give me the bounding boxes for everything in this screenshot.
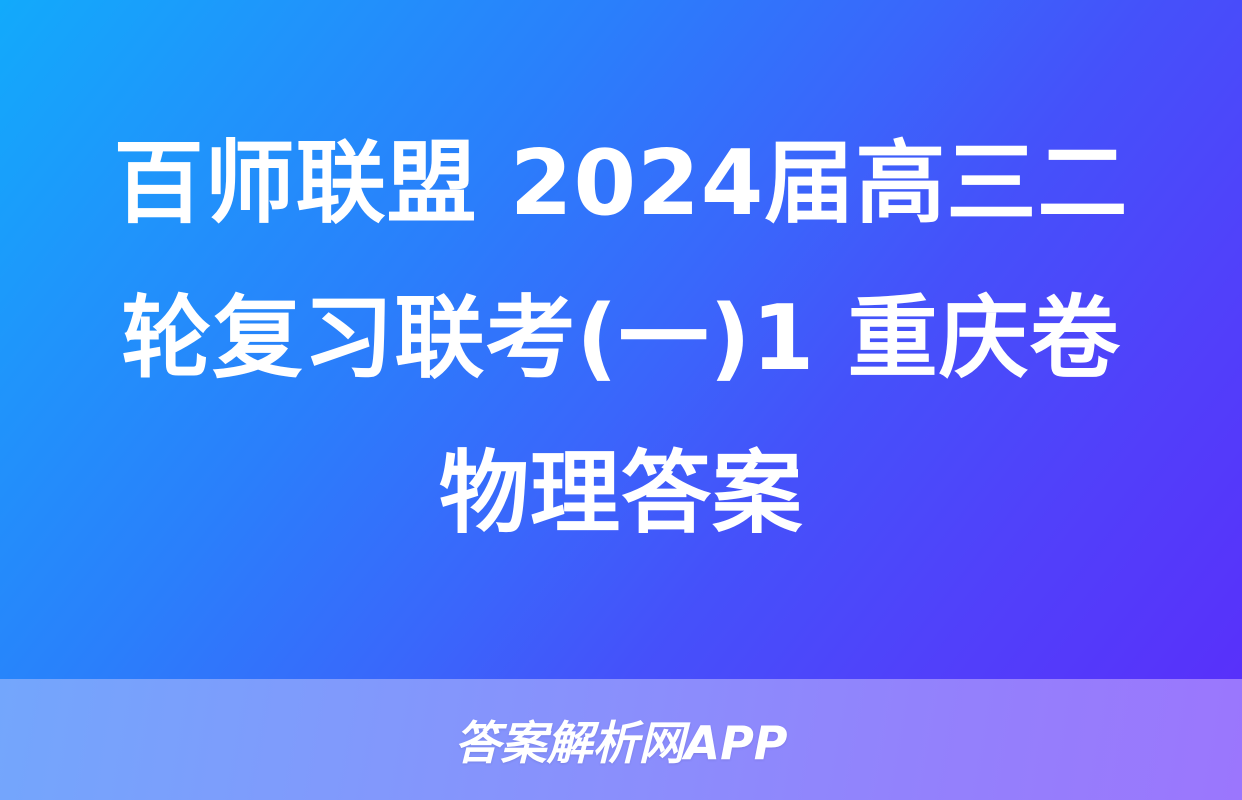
page-title: 百师联盟 2024届高三二轮复习联考(一)1 重庆卷 物理答案	[72, 107, 1170, 571]
watermark-label: 答案解析网APP	[454, 707, 787, 773]
watermark-band: 答案解析网APP	[0, 679, 1242, 800]
title-card: 百师联盟 2024届高三二轮复习联考(一)1 重庆卷 物理答案 答案解析网APP	[0, 0, 1242, 800]
headline-block: 百师联盟 2024届高三二轮复习联考(一)1 重庆卷 物理答案	[0, 0, 1242, 679]
